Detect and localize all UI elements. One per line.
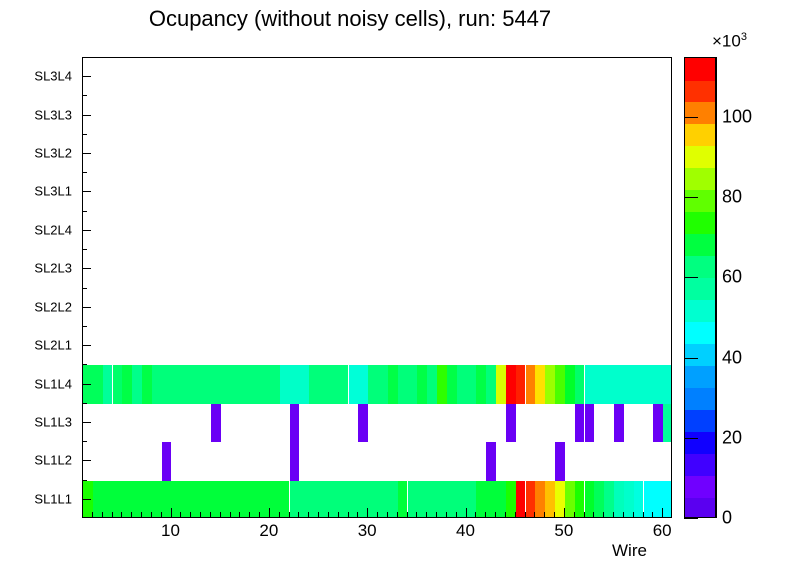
- palette-band: [685, 431, 715, 454]
- y-axis-label-sl3l4: SL3L4: [34, 69, 72, 84]
- x-axis-major-tick: [564, 508, 565, 518]
- x-axis-minor-tick: [289, 512, 290, 518]
- x-axis-minor-tick: [151, 512, 152, 518]
- x-axis-minor-tick: [230, 512, 231, 518]
- palette-tick: [684, 277, 698, 278]
- heatmap-cell: [427, 365, 437, 403]
- palette-tick-label: 0: [722, 508, 732, 529]
- x-axis-major-tick: [662, 508, 663, 518]
- x-axis-minor-tick: [239, 512, 240, 518]
- x-axis-minor-tick: [495, 512, 496, 518]
- y-axis-tick: [82, 153, 91, 154]
- palette-tick: [684, 438, 698, 439]
- heatmap-cell: [132, 365, 142, 403]
- y-axis-label-sl2l3: SL2L3: [34, 261, 72, 276]
- x-axis-title: Wire: [612, 541, 647, 561]
- heatmap-cell: [555, 442, 565, 480]
- x-axis-minor-tick: [298, 512, 299, 518]
- heatmap-cell: [152, 365, 280, 403]
- heatmap-cell: [388, 365, 398, 403]
- x-axis-minor-tick: [141, 512, 142, 518]
- x-axis-minor-tick: [161, 512, 162, 518]
- y-axis-minor-tick: [82, 172, 87, 173]
- y-axis-minor-tick: [82, 441, 87, 442]
- palette-tick: [684, 518, 698, 519]
- x-axis-minor-tick: [308, 512, 309, 518]
- y-axis-minor-tick: [82, 211, 87, 212]
- palette-band: [685, 190, 715, 213]
- x-axis-minor-tick: [633, 512, 634, 518]
- heatmap-cell: [398, 365, 418, 403]
- heatmap-cell: [585, 365, 672, 403]
- y-axis-tick: [82, 115, 91, 116]
- color-palette-bar: [684, 57, 716, 518]
- heatmap-cell: [83, 365, 103, 403]
- heatmap-cell: [535, 365, 545, 403]
- y-axis-tick: [82, 460, 91, 461]
- x-axis-minor-tick: [121, 512, 122, 518]
- x-axis-minor-tick: [475, 512, 476, 518]
- palette-tick: [684, 358, 698, 359]
- x-axis-minor-tick: [623, 512, 624, 518]
- y-axis-label-sl2l2: SL2L2: [34, 299, 72, 314]
- x-axis-tick-label: 50: [554, 521, 573, 541]
- palette-band: [685, 497, 715, 518]
- x-axis-minor-tick: [82, 512, 83, 518]
- y-axis-label-sl1l4: SL1L4: [34, 376, 72, 391]
- y-axis-tick: [82, 230, 91, 231]
- heatmap-cell: [113, 365, 123, 403]
- heatmap-cell: [417, 365, 427, 403]
- palette-exponent-label: ×103: [712, 31, 747, 52]
- heatmap-cell: [663, 404, 671, 442]
- y-axis-label-sl1l3: SL1L3: [34, 414, 72, 429]
- palette-tick-label: 80: [722, 187, 742, 208]
- palette-band: [685, 475, 715, 498]
- palette-band: [685, 321, 715, 344]
- x-axis-minor-tick: [613, 512, 614, 518]
- x-axis-minor-tick: [554, 512, 555, 518]
- palette-tick: [684, 197, 698, 198]
- x-axis-tick-label: 20: [259, 521, 278, 541]
- x-axis-tick-label: 60: [653, 521, 672, 541]
- x-axis-minor-tick: [534, 512, 535, 518]
- heatmap-cell: [290, 442, 300, 480]
- root-canvas: Ocupancy (without noisy cells), run: 544…: [0, 0, 796, 572]
- x-axis-minor-tick: [446, 512, 447, 518]
- x-axis-minor-tick: [436, 512, 437, 518]
- y-axis-minor-tick: [82, 480, 87, 481]
- heatmap-cell: [644, 481, 672, 517]
- palette-band: [685, 234, 715, 257]
- y-axis-tick: [82, 191, 91, 192]
- heatmap-cell: [565, 365, 575, 403]
- x-axis-minor-tick: [357, 512, 358, 518]
- palette-band: [685, 453, 715, 476]
- x-axis-minor-tick: [515, 512, 516, 518]
- heatmap-cell: [368, 365, 388, 403]
- heatmap-cell: [526, 365, 536, 403]
- x-axis-minor-tick: [249, 512, 250, 518]
- heatmap-row-sl1l2: [83, 442, 671, 480]
- y-axis-label-sl1l1: SL1L1: [34, 491, 72, 506]
- palette-band: [685, 256, 715, 279]
- x-axis-minor-tick: [190, 512, 191, 518]
- x-axis-minor-tick: [525, 512, 526, 518]
- x-axis-minor-tick: [426, 512, 427, 518]
- heatmap-row-sl1l4: [83, 365, 671, 403]
- y-axis-tick: [82, 268, 91, 269]
- y-axis-tick: [82, 499, 91, 500]
- x-axis-minor-tick: [397, 512, 398, 518]
- y-axis-label-sl3l1: SL3L1: [34, 184, 72, 199]
- x-axis-minor-tick: [643, 512, 644, 518]
- heatmap-cell: [486, 365, 496, 403]
- heatmap-cell: [506, 365, 516, 403]
- palette-axis-line: [716, 57, 717, 518]
- page-title: Ocupancy (without noisy cells), run: 544…: [0, 6, 700, 32]
- heatmap-cell: [476, 365, 486, 403]
- y-axis-label-sl3l2: SL3L2: [34, 146, 72, 161]
- x-axis-minor-tick: [112, 512, 113, 518]
- x-axis-tick-label: 10: [161, 521, 180, 541]
- heatmap-cell: [447, 365, 457, 403]
- x-axis-major-tick: [367, 508, 368, 518]
- x-axis-minor-tick: [210, 512, 211, 518]
- heatmap-cell: [486, 442, 496, 480]
- palette-band: [685, 146, 715, 169]
- x-axis-minor-tick: [652, 512, 653, 518]
- x-axis-minor-tick: [102, 512, 103, 518]
- x-axis-major-tick: [269, 508, 270, 518]
- palette-tick-label: 40: [722, 347, 742, 368]
- y-axis-minor-tick: [82, 326, 87, 327]
- palette-band: [685, 278, 715, 301]
- y-axis-minor-tick: [82, 403, 87, 404]
- heatmap-cell: [309, 365, 348, 403]
- y-axis-minor-tick: [82, 134, 87, 135]
- x-axis-minor-tick: [387, 512, 388, 518]
- palette-tick: [684, 117, 698, 118]
- x-axis-minor-tick: [416, 512, 417, 518]
- y-axis-tick: [82, 307, 91, 308]
- plot-frame: [82, 57, 672, 518]
- x-axis-minor-tick: [603, 512, 604, 518]
- y-axis-label-sl2l1: SL2L1: [34, 338, 72, 353]
- x-axis-minor-tick: [220, 512, 221, 518]
- x-axis-minor-tick: [544, 512, 545, 518]
- x-axis-minor-tick: [377, 512, 378, 518]
- heatmap-cell: [349, 365, 369, 403]
- palette-band: [685, 343, 715, 366]
- palette-band: [685, 409, 715, 432]
- palette-band: [685, 387, 715, 410]
- x-axis-minor-tick: [593, 512, 594, 518]
- x-axis-minor-tick: [259, 512, 260, 518]
- palette-band: [685, 365, 715, 388]
- x-axis-minor-tick: [584, 512, 585, 518]
- x-axis-minor-tick: [328, 512, 329, 518]
- heatmap-cell: [142, 365, 152, 403]
- x-axis-minor-tick: [200, 512, 201, 518]
- y-axis-minor-tick: [82, 364, 87, 365]
- x-axis-minor-tick: [180, 512, 181, 518]
- x-axis-minor-tick: [505, 512, 506, 518]
- palette-tick-label: 20: [722, 427, 742, 448]
- x-axis-minor-tick: [485, 512, 486, 518]
- x-axis-minor-tick: [279, 512, 280, 518]
- palette-exponent-base: ×10: [712, 32, 741, 51]
- palette-band: [685, 212, 715, 235]
- x-axis-minor-tick: [407, 512, 408, 518]
- heatmap-cell: [103, 365, 113, 403]
- heatmap-cell: [496, 365, 506, 403]
- heatmap-cell: [476, 481, 506, 517]
- x-axis-minor-tick: [318, 512, 319, 518]
- y-axis-minor-tick: [82, 249, 87, 250]
- x-axis-minor-tick: [92, 512, 93, 518]
- palette-band: [685, 80, 715, 103]
- x-axis-minor-tick: [131, 512, 132, 518]
- heatmap-cell: [516, 365, 526, 403]
- x-axis-minor-tick: [338, 512, 339, 518]
- palette-tick-label: 100: [722, 107, 752, 128]
- palette-band: [685, 168, 715, 191]
- heatmap-cell: [290, 481, 398, 517]
- heatmap-row-sl1l3-tail: [83, 404, 671, 442]
- y-axis-tick: [82, 422, 91, 423]
- x-axis-major-tick: [466, 508, 467, 518]
- heatmap-cell: [545, 365, 555, 403]
- palette-tick-label: 60: [722, 267, 742, 288]
- y-axis-label-sl2l4: SL2L4: [34, 222, 72, 237]
- x-axis-tick-label: 40: [456, 521, 475, 541]
- heatmap-cell: [122, 365, 132, 403]
- heatmap-cell: [555, 365, 565, 403]
- y-axis-minor-tick: [82, 95, 87, 96]
- y-axis-labels: SL1L1SL1L2SL1L3SL1L4SL2L1SL2L2SL2L3SL2L4…: [0, 57, 76, 518]
- y-axis-tick: [82, 384, 91, 385]
- x-axis-minor-tick: [574, 512, 575, 518]
- y-axis-tick: [82, 345, 91, 346]
- x-axis-tick-label: 30: [358, 521, 377, 541]
- x-axis-major-tick: [171, 508, 172, 518]
- x-axis-minor-tick: [456, 512, 457, 518]
- y-axis-minor-tick: [82, 288, 87, 289]
- palette-band: [685, 102, 715, 125]
- heatmap-cell: [575, 365, 585, 403]
- palette-band: [685, 299, 715, 322]
- heatmap-plot-area: [83, 58, 671, 517]
- palette-band: [685, 58, 715, 81]
- palette-band: [685, 124, 715, 147]
- heatmap-cell: [162, 442, 172, 480]
- palette-exponent-power: 3: [741, 31, 747, 43]
- y-axis-tick: [82, 76, 91, 77]
- y-axis-label-sl3l3: SL3L3: [34, 107, 72, 122]
- heatmap-cell: [437, 365, 447, 403]
- x-axis-minor-tick: [348, 512, 349, 518]
- y-axis-label-sl1l2: SL1L2: [34, 453, 72, 468]
- heatmap-cell: [280, 365, 310, 403]
- heatmap-cell: [457, 365, 477, 403]
